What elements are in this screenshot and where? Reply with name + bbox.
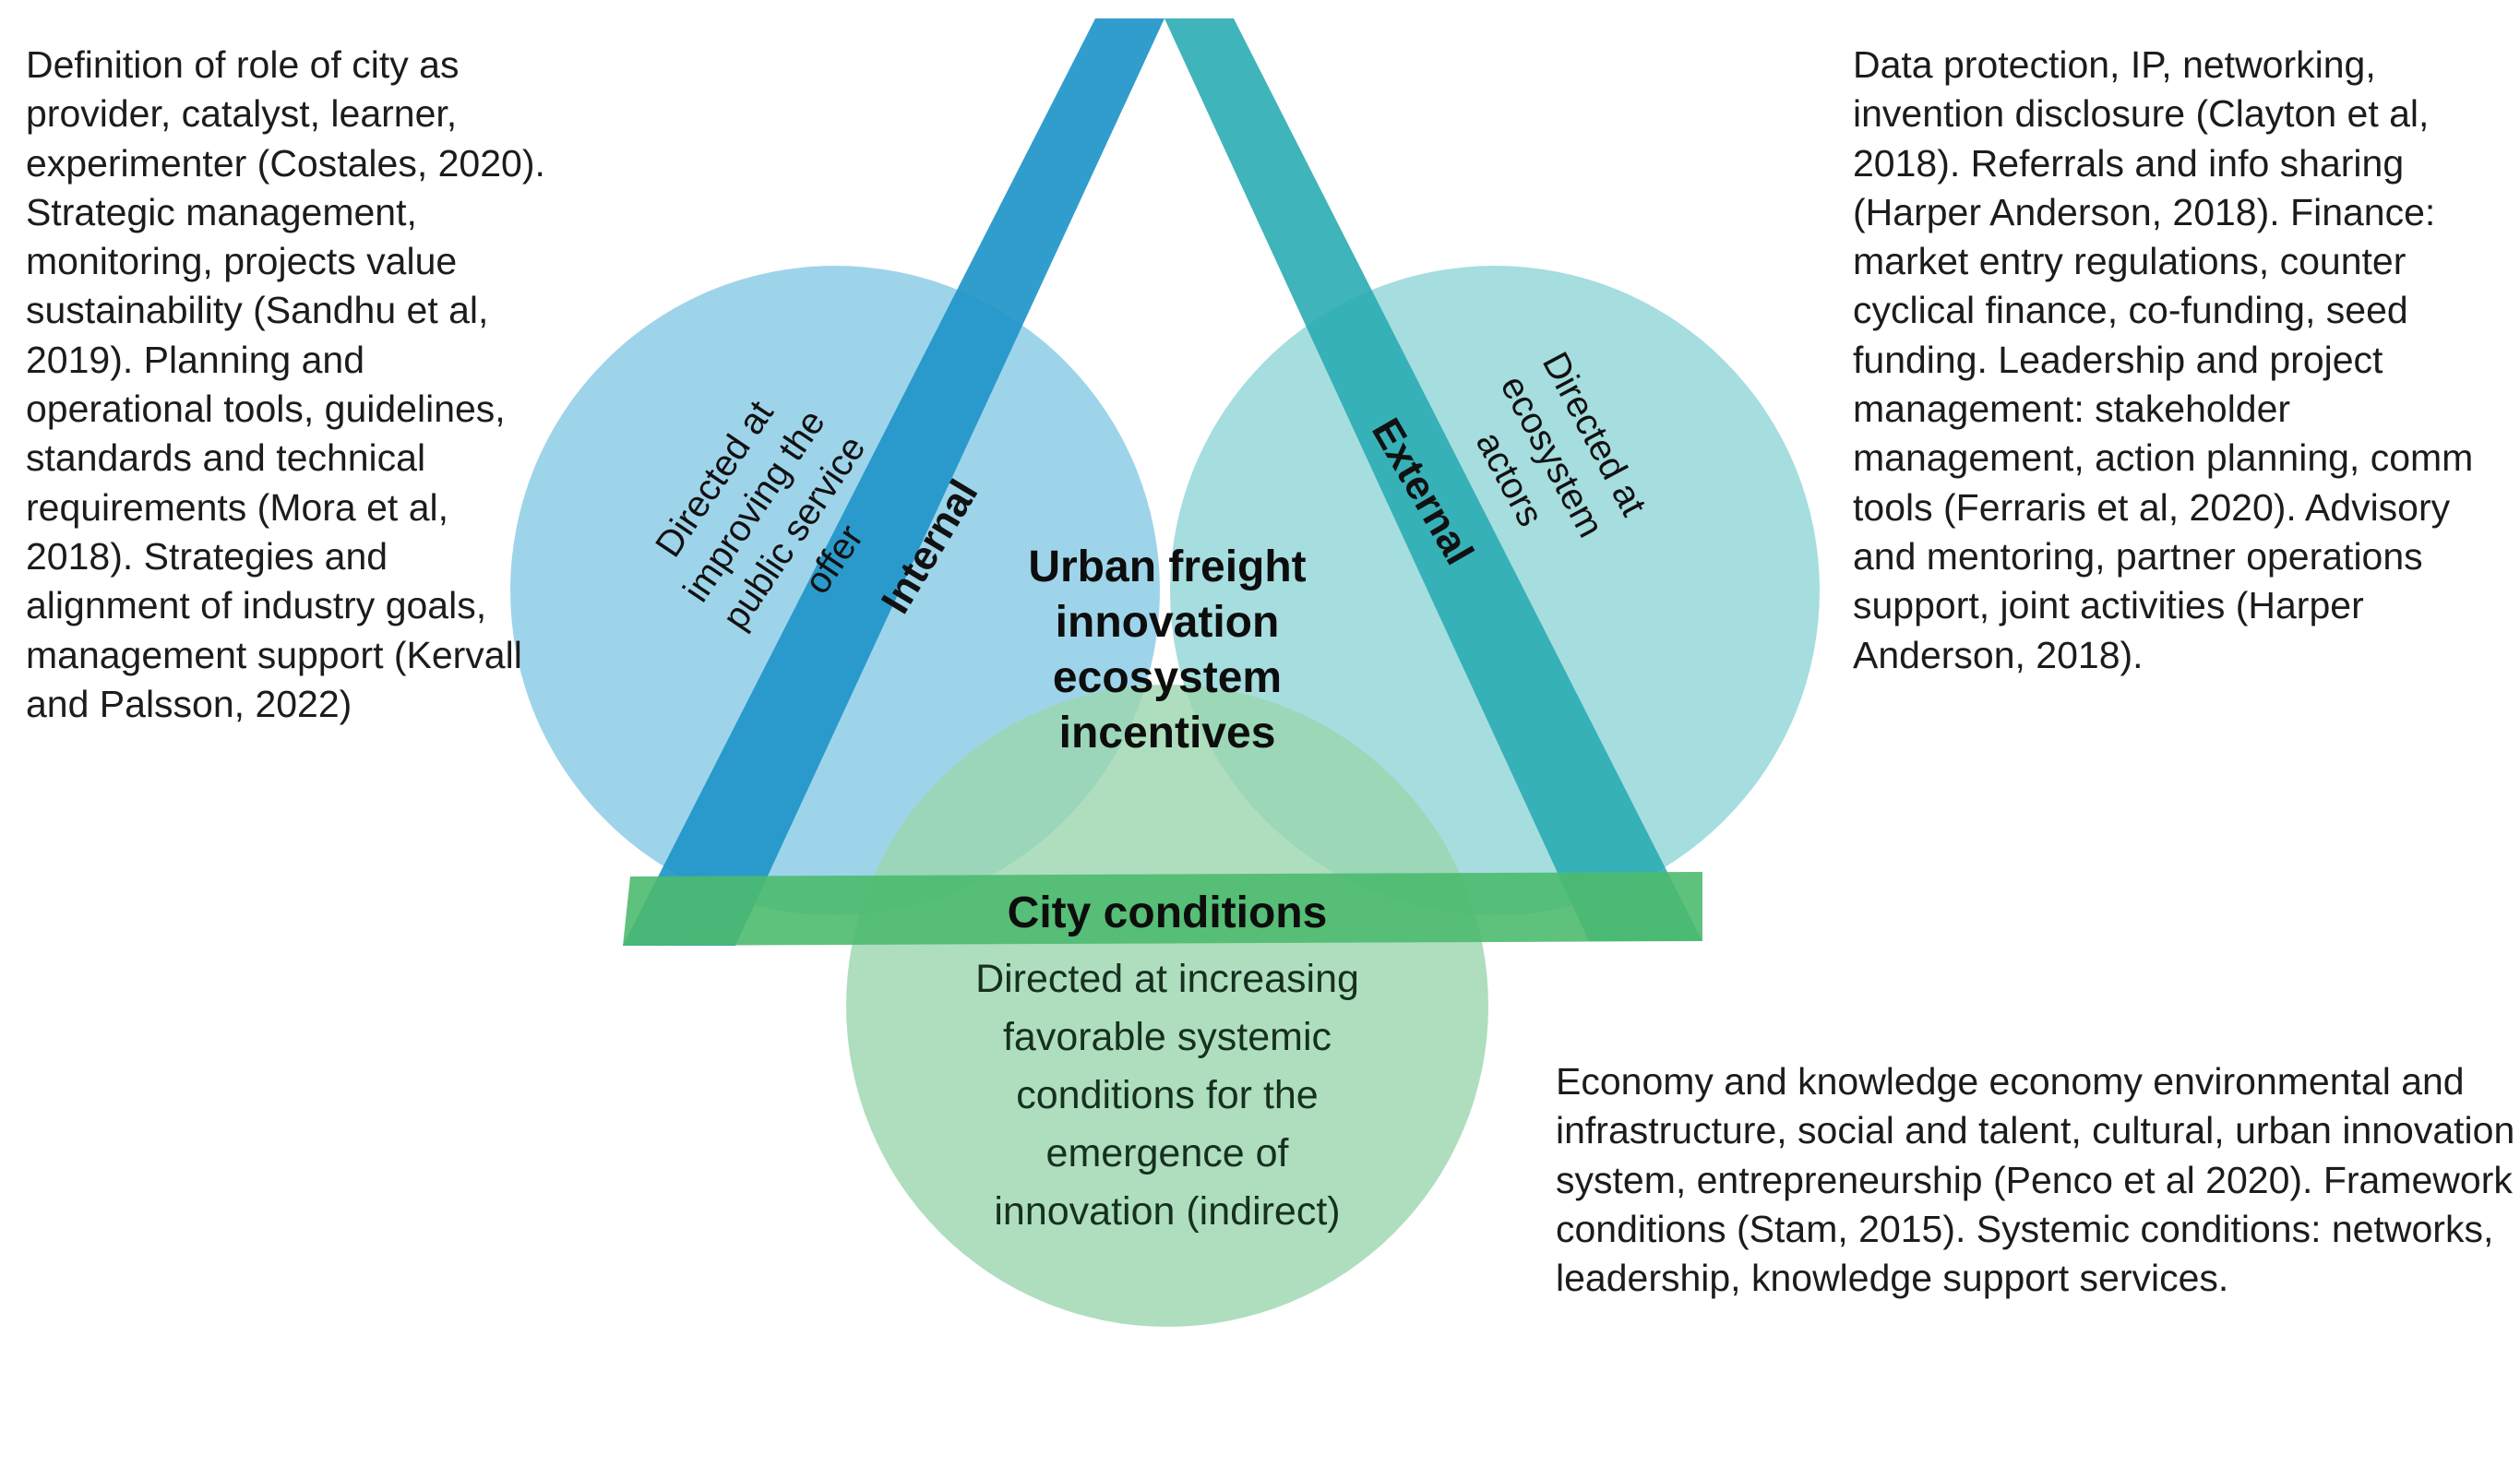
center-title-line-3: ecosystem <box>1053 653 1282 702</box>
circle-city-label-line-2: favorable systemic <box>1003 1015 1332 1059</box>
annotation-left: Definition of role of city as provider, … <box>26 41 561 729</box>
center-title-line-4: incentives <box>1059 709 1276 757</box>
circle-city-label-line-1: Directed at increasing <box>975 957 1359 1001</box>
annotation-right-top: Data protection, IP, networking, inventi… <box>1853 41 2510 680</box>
city-conditions-label: City conditions <box>1008 889 1328 937</box>
center-title-line-2: innovation <box>1056 598 1280 647</box>
circle-city-label-line-5: innovation (indirect) <box>994 1189 1340 1234</box>
circle-city-label-line-3: conditions for the <box>1016 1073 1318 1117</box>
circle-city-label: Directed at increasing favorable systemi… <box>975 957 1359 1234</box>
circle-city-label-line-4: emergence of <box>1046 1131 1290 1175</box>
annotation-right-bottom: Economy and knowledge economy environmen… <box>1556 1057 2515 1303</box>
center-title-line-1: Urban freight <box>1028 543 1306 591</box>
figure-canvas: Directed at improving the public service… <box>0 0 2520 1467</box>
